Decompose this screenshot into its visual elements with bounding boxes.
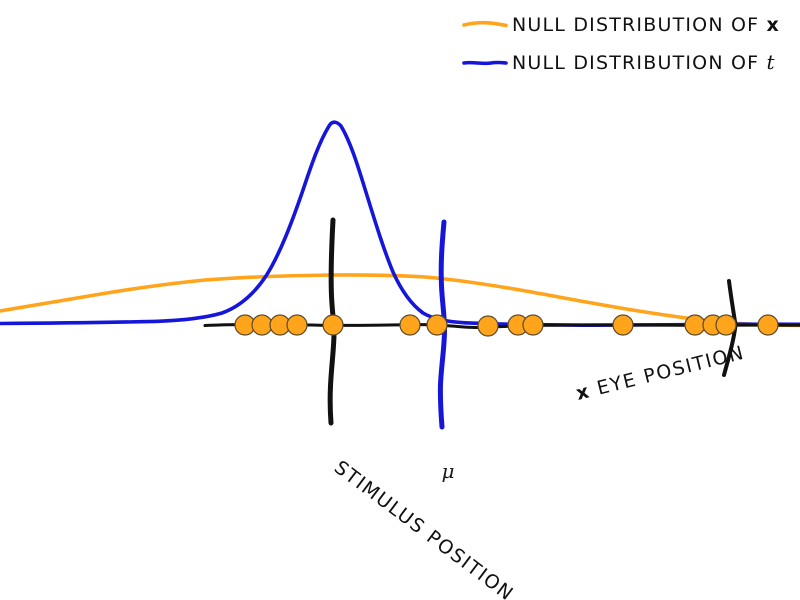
data-point-dot[interactable] [685,315,705,335]
data-point-dot[interactable] [287,315,307,335]
legend-swatch-blue-line [464,62,506,63]
data-point-dot[interactable] [400,315,420,335]
data-point-dot[interactable] [427,315,447,335]
data-point-dot[interactable] [252,315,272,335]
data-point-dot[interactable] [716,315,736,335]
null-distribution-figure: NULL DISTRIBUTION OF x NULL DISTRIBUTION… [0,0,800,600]
data-point-dot[interactable] [613,315,633,335]
data-point-dot[interactable] [758,315,778,335]
data-point-dot[interactable] [323,315,343,335]
legend-item-null-distribution-x[interactable]: NULL DISTRIBUTION OF x [464,14,780,36]
legend-label-null-distribution-x: NULL DISTRIBUTION OF x [512,14,780,36]
data-point-dot[interactable] [523,315,543,335]
legend-label-null-distribution-t: NULL DISTRIBUTION OF t [512,50,776,74]
data-point-dot[interactable] [478,316,498,336]
mu-label: μ [442,459,455,483]
